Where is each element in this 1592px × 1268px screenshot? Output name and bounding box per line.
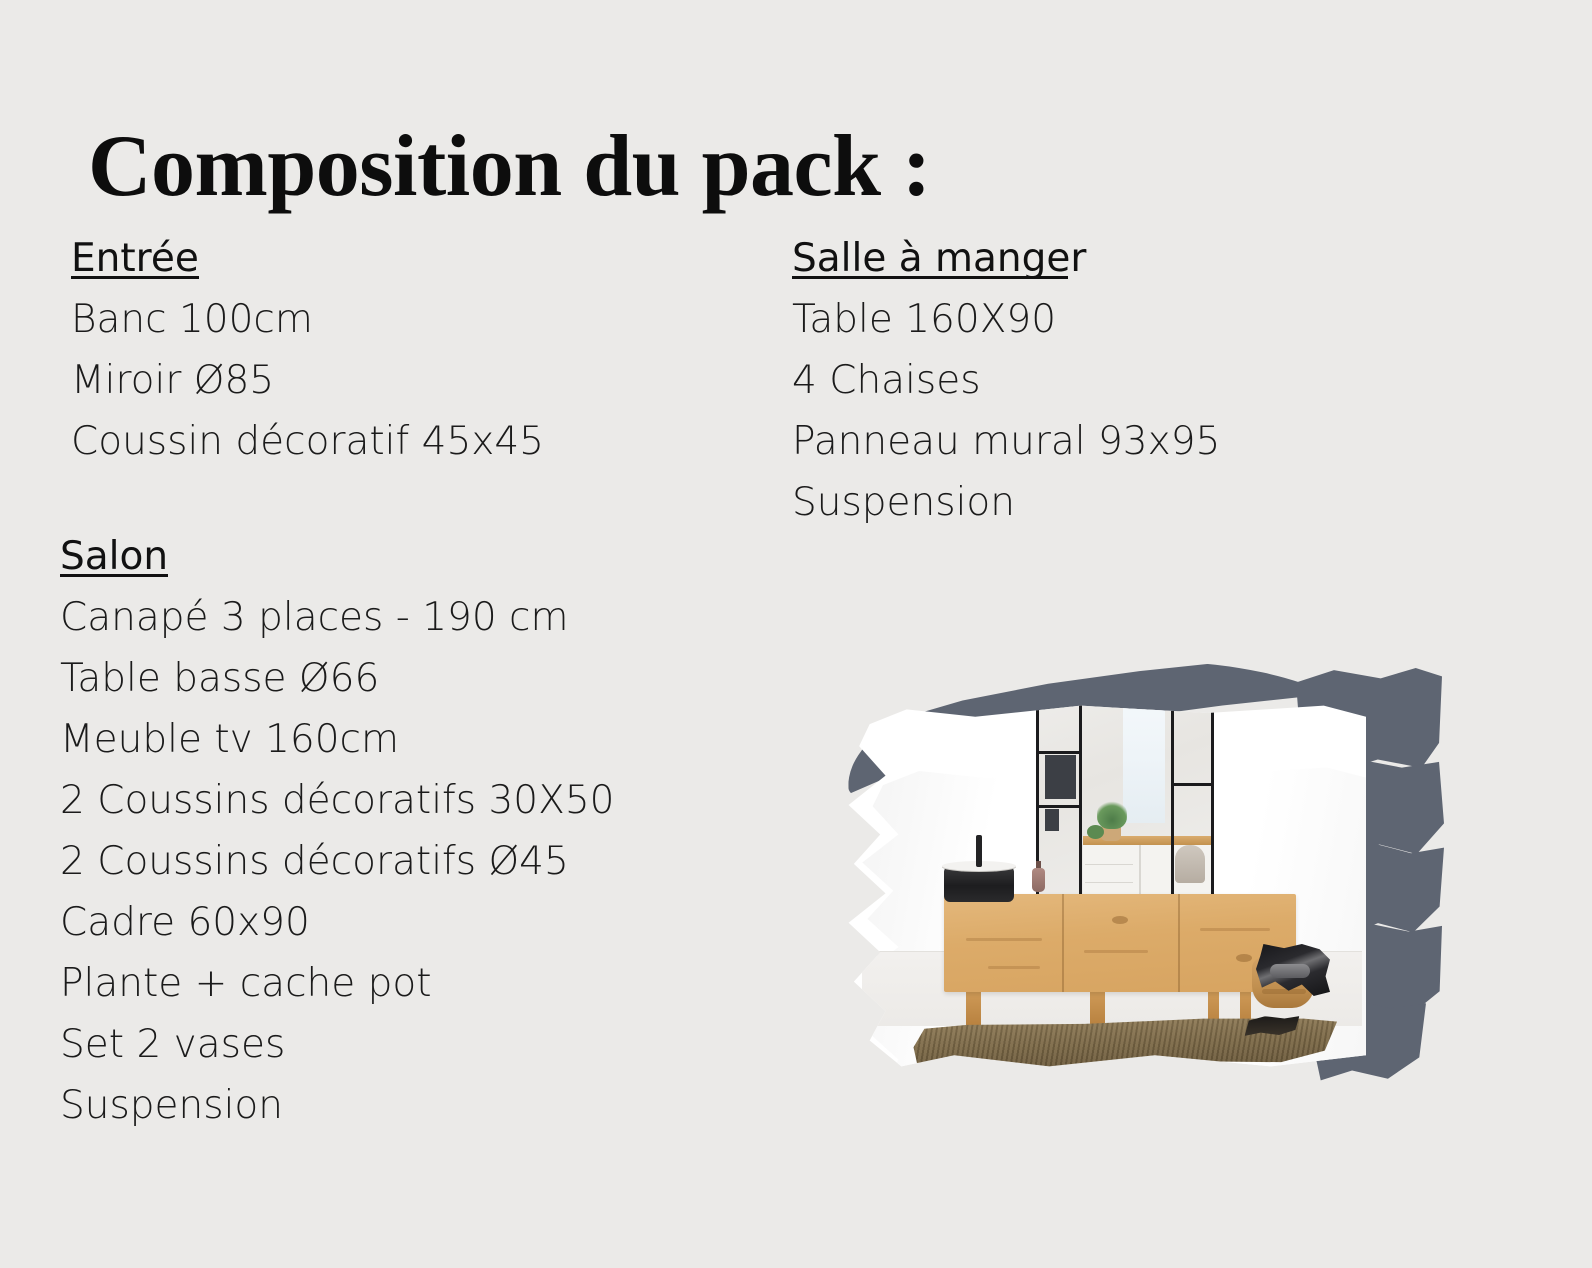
item-list-salon: Canapé 3 places - 190 cm Table basse Ø66…: [60, 587, 720, 1136]
list-item: Panneau mural 93x95: [792, 411, 1352, 472]
plant-icon: [1087, 825, 1104, 839]
section-entree: Entrée Banc 100cm Miroir Ø85 Coussin déc…: [60, 228, 720, 472]
heading-underline: [60, 574, 168, 577]
wood-grain: [1084, 950, 1148, 953]
section-heading-entree-label: Entrée: [71, 236, 199, 281]
list-item: Banc 100cm: [60, 289, 720, 350]
sideboard-leg: [966, 990, 981, 1026]
interior-photo: [828, 648, 1448, 1110]
list-item: Suspension: [60, 1075, 720, 1136]
section-heading-salle-a-manger-label: Salle à manger: [792, 236, 1086, 281]
heading-underline: [71, 276, 199, 279]
section-heading-salon-label: Salon: [60, 534, 168, 579]
column-right: Salle à manger Table 160X90 4 Chaises Pa…: [792, 228, 1352, 533]
page-title: Composition du pack :: [88, 121, 931, 213]
list-item: 2 Coussins décoratifs Ø45: [60, 831, 720, 892]
lamp-finial: [976, 835, 982, 867]
cabinet-handle: [1085, 864, 1133, 866]
column-left: Entrée Banc 100cm Miroir Ø85 Coussin déc…: [60, 228, 720, 1136]
black-table-lamp-icon: [944, 866, 1014, 902]
plant-icon: [1097, 799, 1127, 829]
list-item: Cadre 60x90: [60, 892, 720, 953]
wood-grain: [988, 966, 1040, 969]
wood-knot: [1112, 916, 1128, 924]
door-seam: [1178, 894, 1180, 992]
sideboard-leg: [1090, 990, 1105, 1026]
list-item: Set 2 vases: [60, 1014, 720, 1075]
basket-weave: [1262, 989, 1306, 994]
armchair: [1175, 845, 1205, 883]
mirror-reflection-panel: [1045, 755, 1076, 799]
mirror-reflection-panel: [1045, 809, 1059, 831]
throw-fold: [1270, 964, 1310, 978]
oak-sideboard: [944, 894, 1296, 992]
mirror-frame-bar: [1171, 783, 1211, 786]
wood-grain: [1200, 928, 1270, 931]
decor-bottle: [1032, 868, 1045, 892]
item-list-salle-a-manger: Table 160X90 4 Chaises Panneau mural 93x…: [792, 289, 1352, 533]
slide-canvas: Composition du pack : Entrée Banc 100cm …: [0, 0, 1592, 1268]
list-item: Coussin décoratif 45x45: [60, 411, 720, 472]
item-list-entree: Banc 100cm Miroir Ø85 Coussin décoratif …: [60, 289, 720, 472]
list-item: Table basse Ø66: [60, 648, 720, 709]
section-heading-salle-a-manger: Salle à manger: [792, 228, 1086, 289]
list-item: Plante + cache pot: [60, 953, 720, 1014]
list-item: 4 Chaises: [792, 350, 1352, 411]
section-salle-a-manger: Salle à manger Table 160X90 4 Chaises Pa…: [792, 228, 1352, 533]
mirror-frame-bar: [1039, 751, 1082, 754]
wood-grain: [966, 938, 1042, 941]
room-photo-plate: [838, 702, 1366, 1070]
wood-knot: [1236, 954, 1252, 962]
list-item: Meuble tv 160cm: [60, 709, 720, 770]
list-item: Canapé 3 places - 190 cm: [60, 587, 720, 648]
list-item: 2 Coussins décoratifs 30X50: [60, 770, 720, 831]
mirror-frame-bar: [1039, 805, 1082, 808]
section-heading-entree: Entrée: [71, 228, 199, 289]
list-item: Miroir Ø85: [60, 350, 720, 411]
cabinet-handle: [1085, 882, 1133, 884]
cabinet-divider: [1139, 845, 1141, 897]
list-item: Suspension: [792, 472, 1352, 533]
heading-underline: [792, 276, 1068, 279]
section-heading-salon: Salon: [60, 526, 168, 587]
section-salon: Salon Canapé 3 places - 190 cm Table bas…: [60, 526, 720, 1136]
door-seam: [1062, 894, 1064, 992]
list-item: Table 160X90: [792, 289, 1352, 350]
